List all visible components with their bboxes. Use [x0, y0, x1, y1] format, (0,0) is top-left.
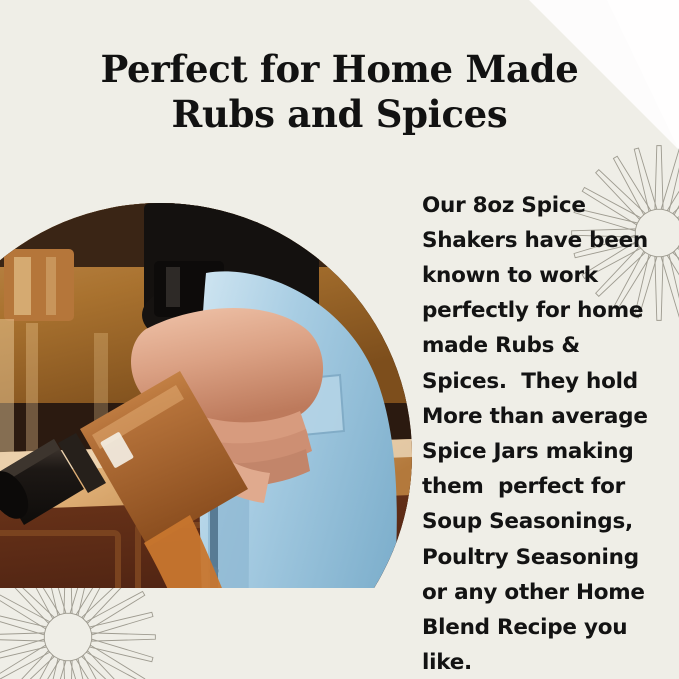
product-photo-circle [0, 203, 412, 588]
page-title-line-2: Rubs and Spices [60, 92, 619, 137]
page-title-line-1: Perfect for Home Made [60, 47, 619, 92]
product-description: Our 8oz Spice Shakers have been known to… [422, 188, 668, 679]
page-title: Perfect for Home Made Rubs and Spices [0, 47, 679, 137]
product-photo [0, 203, 412, 588]
product-infographic-canvas: Perfect for Home Made Rubs and Spices Ou… [0, 0, 679, 679]
